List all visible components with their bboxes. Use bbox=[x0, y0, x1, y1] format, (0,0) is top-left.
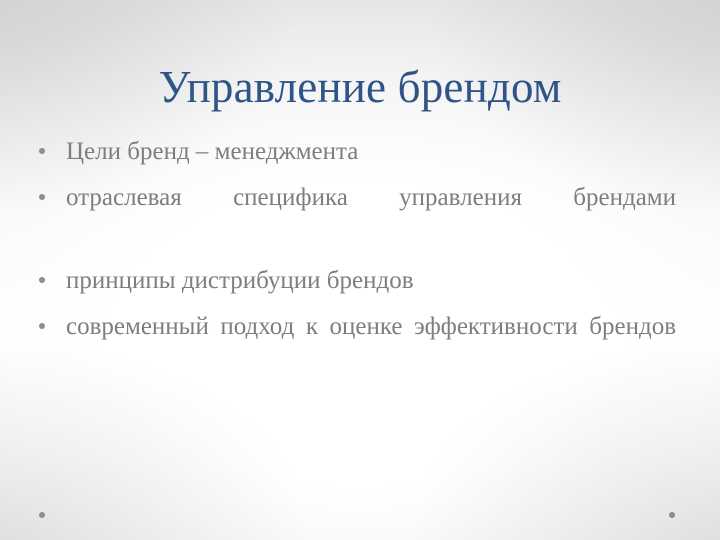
list-item-label: современный подход к оценке эффективност… bbox=[66, 308, 676, 382]
bullet-dot-icon bbox=[39, 148, 45, 154]
slide-title: Управление брендом bbox=[0, 64, 720, 111]
bullet-dot-icon bbox=[39, 277, 45, 283]
bullet-dot-icon bbox=[39, 323, 45, 329]
list-item-label: Цели бренд – менеджмента bbox=[66, 133, 676, 170]
list-item-label: отраслевая специфика управления брендами bbox=[66, 179, 676, 253]
presentation-slide: Управление брендом Цели бренд – менеджме… bbox=[0, 0, 720, 540]
list-item: современный подход к оценке эффективност… bbox=[28, 308, 676, 382]
bullet-dot-icon bbox=[39, 194, 45, 200]
footer-dot-right-icon bbox=[669, 512, 675, 518]
list-item: принципы дистрибуции брендов bbox=[28, 262, 676, 299]
list-item-label: принципы дистрибуции брендов bbox=[66, 262, 676, 299]
slide-body: Цели бренд – менеджмента отраслевая спец… bbox=[28, 133, 676, 382]
bullet-list: Цели бренд – менеджмента отраслевая спец… bbox=[28, 133, 676, 382]
list-item: Цели бренд – менеджмента bbox=[28, 133, 676, 170]
footer-dot-left-icon bbox=[39, 512, 45, 518]
list-item: отраслевая специфика управления брендами bbox=[28, 179, 676, 253]
